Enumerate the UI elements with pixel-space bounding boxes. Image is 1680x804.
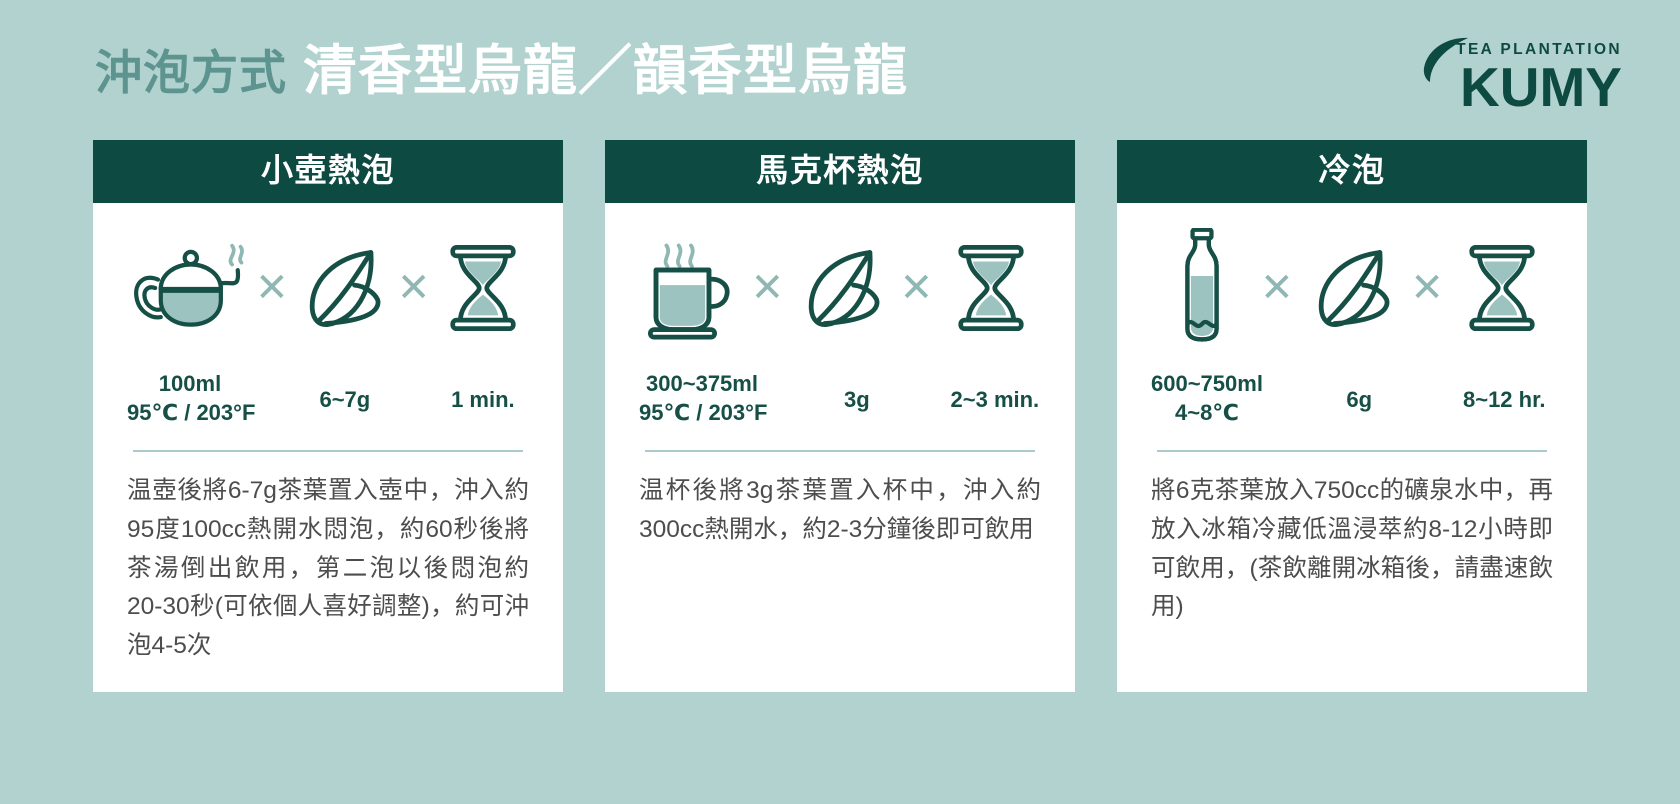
measure-weight: 3g bbox=[811, 369, 903, 415]
teapot-icon bbox=[127, 218, 249, 358]
hourglass-icon bbox=[437, 218, 529, 358]
icon-row: ✕ ✕ bbox=[1151, 213, 1553, 363]
measure-time: 8~12 hr. bbox=[1456, 369, 1553, 415]
measure-row: 300~375ml 95℃ / 203°F 3g 2~3 min. bbox=[639, 369, 1041, 428]
measure-temp-value: 95℃ / 203°F bbox=[127, 398, 253, 428]
multiply-icon: ✕ bbox=[1409, 268, 1446, 308]
measure-volume-value: 600~750ml bbox=[1151, 369, 1263, 399]
logo-wordmark: KUMY bbox=[1460, 60, 1622, 115]
title-prefix: 沖泡方式 bbox=[95, 49, 287, 96]
card-description: 將6克茶葉放入750cc的礦泉水中，再放入冰箱冷藏低溫浸萃約8-12小時即可飲用… bbox=[1151, 472, 1553, 627]
multiply-icon: ✕ bbox=[898, 268, 935, 308]
hourglass-icon bbox=[941, 218, 1041, 358]
measure-time-value: 1 min. bbox=[437, 385, 529, 415]
icon-row: ✕ ✕ bbox=[127, 213, 529, 363]
multiply-icon: ✕ bbox=[255, 268, 289, 308]
tea-leaf-icon bbox=[792, 218, 892, 358]
page-header: 沖泡方式 清香型烏龍／韻香型烏龍 TEA PLANTATION KUMY bbox=[0, 0, 1680, 135]
measure-time: 1 min. bbox=[437, 369, 529, 415]
measure-temp-value: 4~8℃ bbox=[1151, 398, 1263, 428]
measure-volume: 600~750ml 4~8℃ bbox=[1151, 369, 1263, 428]
hourglass-icon bbox=[1452, 218, 1553, 358]
measure-row: 600~750ml 4~8℃ 6g 8~12 hr. bbox=[1151, 369, 1553, 428]
brand-logo: TEA PLANTATION KUMY bbox=[1392, 38, 1622, 116]
icon-row: ✕ ✕ bbox=[639, 213, 1041, 363]
card-description: 温杯後將3g茶葉置入杯中，沖入約300cc熱開水，約2-3分鐘後即可飲用 bbox=[639, 472, 1041, 549]
measure-temp-value: 95℃ / 203°F bbox=[639, 398, 765, 428]
multiply-icon: ✕ bbox=[749, 268, 786, 308]
measure-volume: 100ml 95℃ / 203°F bbox=[127, 369, 253, 428]
measure-weight-value: 3g bbox=[811, 385, 903, 415]
measure-weight-value: 6g bbox=[1311, 385, 1408, 415]
divider bbox=[1157, 450, 1547, 452]
page-title: 沖泡方式 清香型烏龍／韻香型烏龍 bbox=[95, 44, 908, 98]
mug-icon bbox=[639, 218, 743, 358]
tea-leaf-icon bbox=[1301, 218, 1402, 358]
measure-row: 100ml 95℃ / 203°F 6~7g 1 min. bbox=[127, 369, 529, 428]
multiply-icon: ✕ bbox=[1258, 268, 1295, 308]
method-cards: 小壺熱泡 bbox=[0, 140, 1680, 692]
measure-volume-value: 300~375ml bbox=[639, 369, 765, 399]
divider bbox=[133, 450, 523, 452]
card-body: ✕ ✕ bbox=[605, 203, 1075, 692]
multiply-icon: ✕ bbox=[397, 268, 431, 308]
title-main: 清香型烏龍／韻香型烏龍 bbox=[303, 44, 908, 98]
card-body: ✕ ✕ bbox=[1117, 203, 1587, 692]
card-body: ✕ ✕ bbox=[93, 203, 563, 692]
card-title: 馬克杯熱泡 bbox=[605, 140, 1075, 203]
card-small-pot-hot-brew: 小壺熱泡 bbox=[93, 140, 563, 692]
measure-time: 2~3 min. bbox=[949, 369, 1041, 415]
infographic-page: 沖泡方式 清香型烏龍／韻香型烏龍 TEA PLANTATION KUMY 小壺熱… bbox=[0, 0, 1680, 804]
card-description: 温壺後將6-7g茶葉置入壺中，沖入約95度100cc熱開水悶泡，約60秒後將茶湯… bbox=[127, 472, 529, 666]
card-mug-hot-brew: 馬克杯熱泡 bbox=[605, 140, 1075, 692]
measure-volume: 300~375ml 95℃ / 203°F bbox=[639, 369, 765, 428]
bottle-icon bbox=[1151, 218, 1252, 358]
measure-time-value: 8~12 hr. bbox=[1456, 385, 1553, 415]
measure-weight-value: 6~7g bbox=[299, 385, 391, 415]
leaf-icon bbox=[1420, 36, 1472, 84]
divider bbox=[645, 450, 1035, 452]
measure-weight: 6~7g bbox=[299, 369, 391, 415]
measure-volume-value: 100ml bbox=[127, 369, 253, 399]
measure-weight: 6g bbox=[1311, 369, 1408, 415]
card-title: 小壺熱泡 bbox=[93, 140, 563, 203]
measure-time-value: 2~3 min. bbox=[949, 385, 1041, 415]
tea-leaf-icon bbox=[295, 218, 391, 358]
card-cold-brew: 冷泡 ✕ bbox=[1117, 140, 1587, 692]
card-title: 冷泡 bbox=[1117, 140, 1587, 203]
